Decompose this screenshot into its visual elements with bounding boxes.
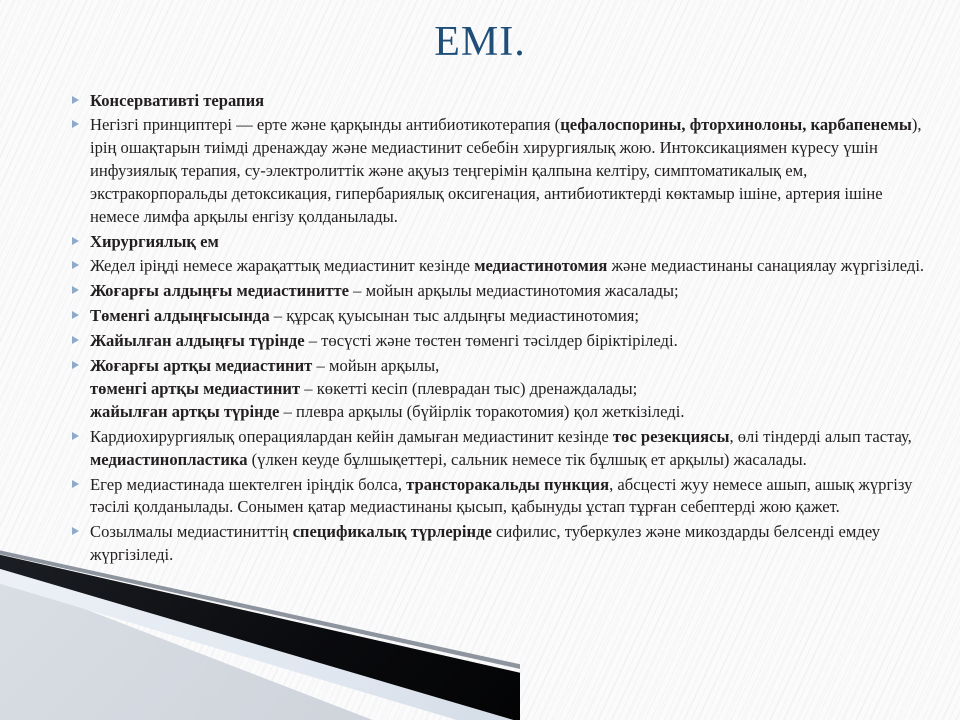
bullet-conservative-heading: Консервативті терапия [70,90,930,113]
bullet-text: Жоғарғы алдыңғы медиастинитте – мойын ар… [90,281,679,300]
bullet-triangle-icon [72,286,79,294]
bullet-list: Консервативті терапияНегізгі принциптері… [70,90,930,569]
bullet-cardiosurgery: Кардиохирургиялық операциялардан кейін д… [70,426,930,472]
bullet-text: Кардиохирургиялық операциялардан кейін д… [90,427,912,469]
bullet-upper-anterior: Жоғарғы алдыңғы медиастинитте – мойын ар… [70,280,930,303]
bullet-text: Созылмалы медиастиниттің спецификалық тү… [90,522,880,564]
bullet-chronic-specific: Созылмалы медиастиниттің спецификалық тү… [70,521,930,567]
bullet-triangle-icon [72,237,79,245]
bullet-triangle-icon [72,261,79,269]
bullet-triangle-icon [72,96,79,104]
bullet-text: Хирургиялық ем [90,232,219,251]
slide: ЕМІ. Консервативті терапияНегізгі принци… [0,0,960,720]
bullet-triangle-icon [72,432,79,440]
bullet-lower-anterior: Төменгі алдыңғысында – құрсақ қуысынан т… [70,305,930,328]
bullet-triangle-icon [72,527,79,535]
bullet-text: Жедел іріңді немесе жарақаттық медиастин… [90,256,924,275]
bullet-conservative-principles: Негізгі принциптері — ерте және қарқынды… [70,114,930,229]
bullet-triangle-icon [72,480,79,488]
bullet-text: Жайылған алдыңғы түрінде – төсүсті және … [90,331,678,350]
bullet-text: Егер медиастинада шектелген іріңдік болс… [90,475,912,517]
bullet-triangle-icon [72,120,79,128]
bullet-text: Консервативті терапия [90,91,264,110]
page-title: ЕМІ. [0,18,960,66]
bullet-transthoracic: Егер медиастинада шектелген іріңдік болс… [70,474,930,520]
bullet-triangle-icon [72,336,79,344]
bullet-triangle-icon [72,311,79,319]
bullet-triangle-icon [72,361,79,369]
bullet-text: Жоғарғы артқы медиастинит – мойын арқылы… [90,356,684,421]
bullet-text: Төменгі алдыңғысында – құрсақ қуысынан т… [90,306,639,325]
bullet-diffuse-anterior: Жайылған алдыңғы түрінде – төсүсті және … [70,330,930,353]
bullet-text: Негізгі принциптері — ерте және қарқынды… [90,115,922,226]
bullet-posterior-group: Жоғарғы артқы медиастинит – мойын арқылы… [70,355,930,424]
bullet-surgical-heading: Хирургиялық ем [70,231,930,254]
bullet-acute-purulent: Жедел іріңді немесе жарақаттық медиастин… [70,255,930,278]
